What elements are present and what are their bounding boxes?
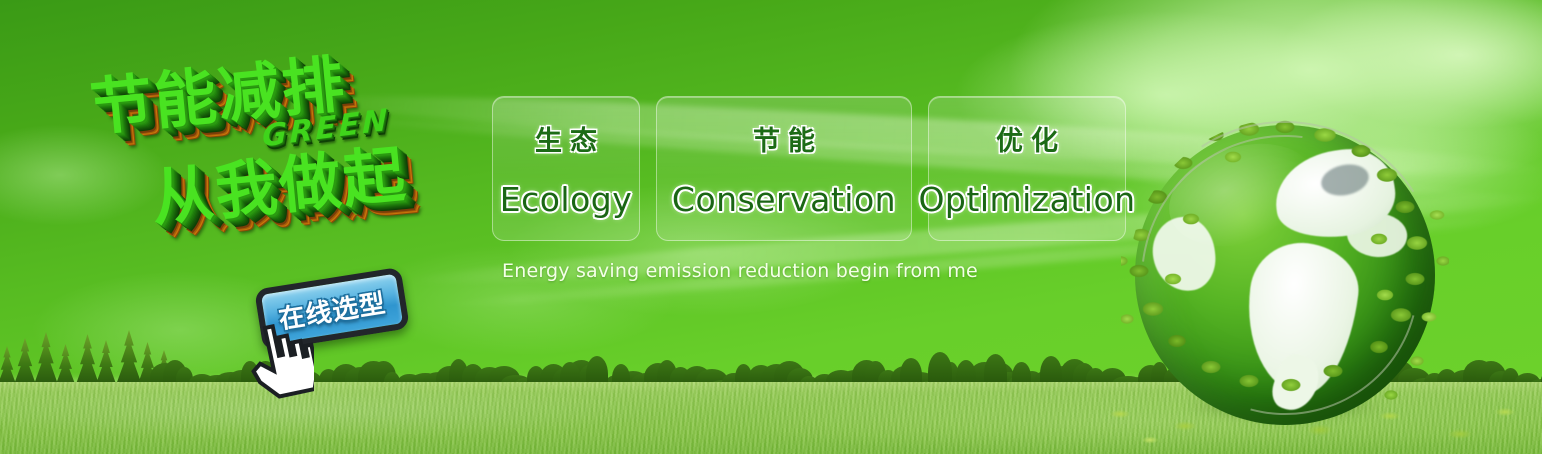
shrub-icon (228, 370, 255, 392)
feature-card-optimization[interactable]: 优化 Optimization (928, 96, 1126, 241)
shrub-icon (501, 375, 531, 392)
shrub-icon (1502, 368, 1519, 392)
shrub-icon (345, 367, 377, 392)
shrub-icon (1476, 361, 1506, 392)
shrub-icon (436, 366, 463, 392)
shrub-icon (1450, 370, 1478, 392)
shrub-icon (917, 381, 948, 392)
tree-crown (134, 342, 161, 390)
shrub-icon (618, 371, 648, 392)
shrub-icon (1034, 370, 1063, 392)
tree-crown (52, 344, 79, 390)
shrub-icon (163, 360, 187, 392)
shrub-icon (865, 361, 886, 392)
tree-icon (900, 358, 922, 392)
banner-tagline: Energy saving emission reduction begin f… (502, 260, 978, 282)
shrub-icon (670, 367, 691, 392)
pine-tree-icon (92, 340, 120, 408)
shrub-icon (748, 365, 774, 392)
hero-logo-3d: 节能减排 从我做起 GREEN (86, 19, 506, 286)
shrub-icon (995, 372, 1022, 392)
shrub-icon (1515, 373, 1540, 392)
tree-icon (928, 352, 952, 392)
tree-crown (30, 332, 62, 390)
shrub-icon (384, 372, 400, 392)
shrub-icon (397, 374, 422, 392)
feature-card-cn-label: 节能 (745, 119, 823, 158)
shrub-icon (449, 359, 468, 392)
pine-tree-icon (10, 338, 40, 408)
shrub-icon (319, 369, 338, 392)
shrub-icon (735, 364, 752, 392)
tree-crown (0, 346, 20, 390)
pine-tree-icon (52, 344, 79, 408)
tree-trunk (86, 382, 89, 408)
feature-card-en-label: Optimization (918, 180, 1135, 219)
shrub-icon (930, 368, 955, 392)
shrub-icon (1008, 376, 1027, 392)
shrub-icon (813, 374, 836, 392)
tree-icon (1012, 362, 1031, 392)
tree-icon (1040, 356, 1062, 392)
shrub-icon (644, 363, 672, 392)
shrub-icon (462, 364, 484, 392)
shrub-icon (1463, 360, 1495, 392)
shrub-icon (202, 375, 233, 392)
pine-tree-icon (0, 346, 20, 408)
tree-trunk (24, 382, 27, 408)
leafy-globe-icon (1135, 125, 1435, 425)
shrub-icon (1489, 371, 1513, 392)
tree-crown (112, 330, 146, 390)
shrub-icon (657, 360, 677, 393)
feature-card-ecology[interactable]: 生态 Ecology (492, 96, 640, 241)
feature-card-list: 生态 Ecology 节能 Conservation 优化 Optimizati… (492, 96, 1126, 241)
shrub-icon (1047, 366, 1079, 392)
shrub-icon (280, 365, 312, 392)
shrub-icon (553, 367, 585, 392)
shrub-icon (241, 361, 259, 392)
globe-sphere (1135, 125, 1435, 425)
tree-trunk (64, 382, 67, 408)
tree-trunk (128, 382, 131, 408)
tree-icon (612, 364, 630, 392)
shrub-icon (956, 366, 981, 392)
shrub-icon (306, 383, 328, 392)
feature-card-cn-label: 生态 (527, 119, 605, 158)
shrub-icon (1060, 359, 1089, 392)
shrub-icon (904, 372, 936, 392)
tree-crown (92, 340, 120, 390)
tree-trunk (6, 382, 9, 408)
continent-africa (1149, 214, 1218, 294)
online-selection-label: 在线选型 (276, 282, 388, 335)
pine-tree-icon (134, 342, 161, 408)
shrub-icon (852, 360, 881, 392)
shrub-icon (579, 364, 605, 392)
shrub-icon (605, 375, 629, 392)
tree-crown (152, 350, 176, 390)
shrub-icon (1073, 363, 1095, 392)
shrub-icon (982, 362, 1014, 392)
shrub-icon (488, 366, 520, 392)
shrub-icon (1528, 379, 1542, 392)
tree-trunk (163, 382, 166, 408)
shrub-icon (761, 364, 792, 392)
tree-crown (72, 334, 103, 390)
shrub-icon (878, 370, 898, 392)
shrub-icon (787, 368, 813, 392)
pine-tree-icon (152, 350, 176, 408)
tree-icon (560, 362, 580, 392)
feature-card-en-label: Conservation (672, 180, 896, 219)
shrub-icon (696, 369, 728, 392)
shrub-icon (293, 371, 322, 392)
tree-icon (956, 360, 976, 392)
tree-crown (10, 338, 40, 390)
shrub-icon (774, 361, 805, 392)
shrub-icon (475, 367, 504, 392)
shrub-icon (709, 380, 739, 392)
shrub-icon (969, 362, 1000, 392)
pine-tree-icon (30, 332, 62, 408)
shrub-icon (189, 374, 215, 392)
feature-card-conservation[interactable]: 节能 Conservation (656, 96, 912, 241)
shrub-icon (540, 364, 567, 392)
pine-tree-icon (112, 330, 146, 408)
online-selection-button[interactable]: 在线选型 (254, 267, 410, 351)
shrub-icon (800, 376, 818, 392)
shrub-icon (267, 368, 297, 392)
shrub-icon (176, 367, 193, 392)
tree-trunk (45, 382, 48, 408)
shrub-icon (592, 376, 609, 392)
shrub-icon (722, 373, 746, 392)
shrub-icon (566, 360, 597, 392)
shrub-icon (826, 370, 856, 392)
shrub-icon (410, 373, 441, 392)
shrub-icon (332, 364, 360, 392)
shrub-icon (943, 362, 959, 392)
shrub-icon (527, 366, 545, 392)
tree-icon (984, 354, 1007, 392)
shrub-icon (631, 373, 663, 392)
tree-icon (586, 356, 608, 392)
tree-trunk (146, 382, 149, 408)
pine-tree-icon (72, 334, 103, 408)
shrub-icon (1099, 368, 1126, 392)
shrub-icon (1086, 368, 1105, 392)
feature-card-en-label: Ecology (500, 180, 633, 219)
shrub-icon (514, 378, 537, 392)
feature-card-cn-label: 优化 (988, 119, 1066, 158)
shrub-icon (215, 372, 247, 392)
eco-promo-banner: 节能减排 从我做起 GREEN 在线选型 生态 Ecology 节能 Conse… (0, 0, 1542, 454)
shrub-icon (1021, 371, 1043, 392)
shrub-icon (254, 361, 277, 392)
shrub-icon (683, 366, 711, 392)
shrub-icon (358, 361, 389, 392)
shrub-icon (150, 363, 180, 392)
shrub-icon (891, 366, 919, 392)
shrub-icon (839, 370, 871, 392)
shrub-icon (371, 361, 396, 392)
shrub-icon (1437, 369, 1457, 392)
shrub-icon (423, 372, 455, 392)
tree-trunk (105, 382, 108, 408)
